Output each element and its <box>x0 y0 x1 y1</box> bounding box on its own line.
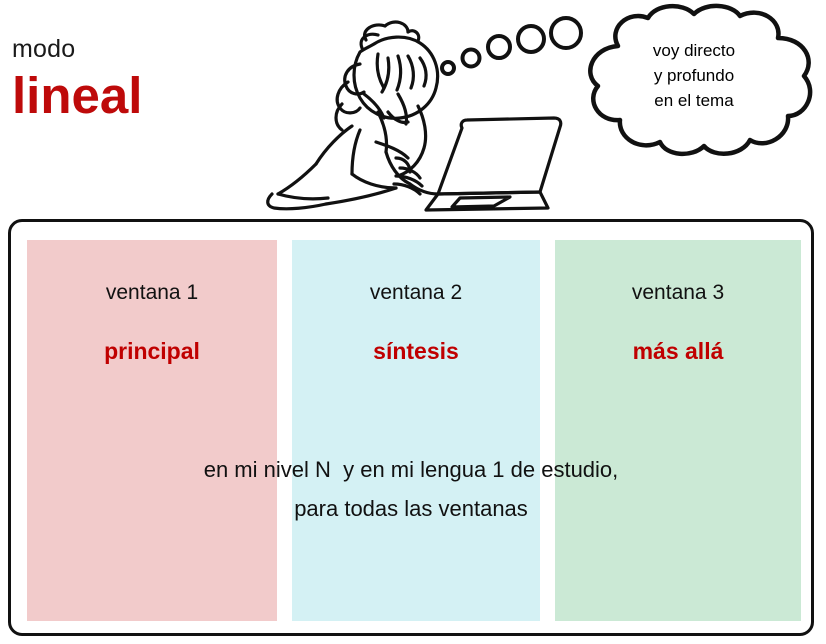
windows-panel: ventana 1 principal ventana 2 síntesis v… <box>8 219 814 636</box>
window-2-name: síntesis <box>292 337 540 365</box>
window-3-label: ventana 3 <box>555 280 801 306</box>
thought-line-3: en el tema <box>608 88 780 113</box>
window-3-name: más allá <box>555 337 801 365</box>
thought-line-2: y profundo <box>608 63 780 88</box>
header-area: modo lineal <box>0 0 826 218</box>
window-column-3[interactable]: ventana 3 más allá <box>555 240 801 621</box>
window-column-2[interactable]: ventana 2 síntesis <box>292 240 540 621</box>
thought-bubble-text: voy directo y profundo en el tema <box>608 38 780 113</box>
window-2-label: ventana 2 <box>292 280 540 306</box>
window-column-1[interactable]: ventana 1 principal <box>27 240 277 621</box>
thought-line-1: voy directo <box>608 38 780 63</box>
title-kicker: modo <box>12 34 252 64</box>
page-title: modo lineal <box>12 34 252 124</box>
window-1-name: principal <box>27 337 277 365</box>
title-main: lineal <box>12 68 252 124</box>
window-1-label: ventana 1 <box>27 280 277 306</box>
